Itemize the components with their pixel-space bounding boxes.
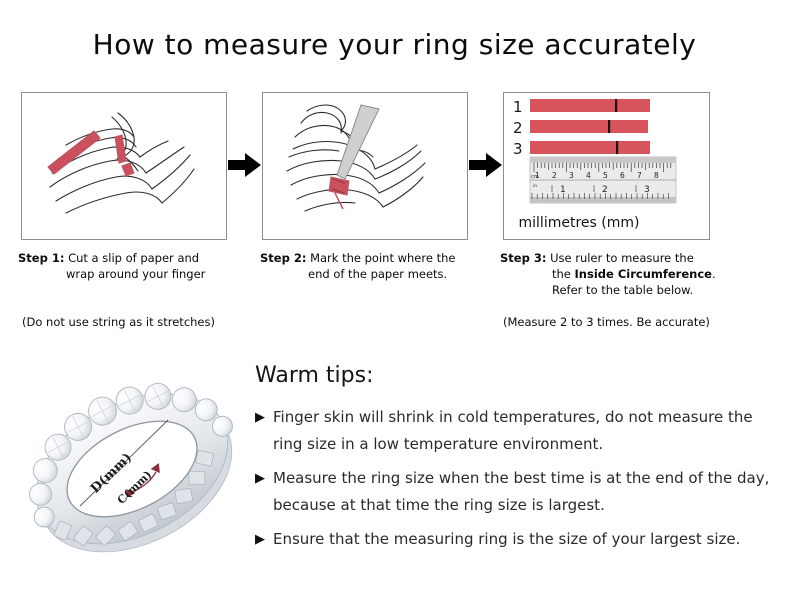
arrow-right-glyph	[228, 150, 262, 180]
cm-tick-3: 3	[569, 171, 574, 180]
step-2-line2: end of the paper meets.	[260, 266, 492, 282]
step-3-caption: Step 3: Use ruler to measure the the Ins…	[500, 250, 750, 298]
strip-number-1: 1	[513, 98, 523, 116]
tip-item-1: ▶ Finger skin will shrink in cold temper…	[255, 404, 775, 458]
tip-text-3: Ensure that the measuring ring is the si…	[273, 526, 775, 553]
inch-tick-2: 2	[602, 185, 608, 195]
arrow-right-glyph	[469, 150, 503, 180]
step-3-line2-prefix: the	[552, 267, 575, 281]
cm-tick-6: 6	[620, 171, 625, 180]
hand-marking-paper-icon	[263, 93, 468, 240]
step-3-illustration-panel: 1 2 3	[503, 92, 710, 240]
tip-item-3: ▶ Ensure that the measuring ring is the …	[255, 526, 775, 553]
cm-unit-label: cm	[531, 174, 539, 180]
arrow-right-icon-2	[469, 150, 503, 180]
page-title: How to measure your ring size accurately	[0, 28, 789, 61]
inch-unit-label: in	[533, 183, 537, 189]
strip-number-2: 2	[513, 119, 523, 137]
step-3-inside-circumference: Inside Circumference	[575, 267, 712, 281]
step-1-label: Step 1:	[18, 251, 64, 265]
step-3-note: (Measure 2 to 3 times. Be accurate)	[503, 315, 710, 329]
step-2-line1: Mark the point where the	[306, 251, 455, 265]
tip-item-2: ▶ Measure the ring size when the best ti…	[255, 465, 775, 519]
step-3-line2: the Inside Circumference.	[500, 266, 750, 282]
bullet-triangle-icon: ▶	[255, 526, 273, 553]
step-2-caption: Step 2: Mark the point where the end of …	[260, 250, 492, 282]
cm-tick-2: 2	[552, 171, 557, 180]
paper-strips-and-ruler-icon: 1 2 3	[504, 93, 710, 240]
tip-text-1: Finger skin will shrink in cold temperat…	[273, 404, 775, 458]
ring-figure: D(mm) C(mm)	[18, 358, 246, 580]
cm-tick-5: 5	[603, 171, 608, 180]
step-3-line1: Use ruler to measure the	[546, 251, 693, 265]
step-2-label: Step 2:	[260, 251, 306, 265]
step-2-illustration-panel	[262, 92, 468, 240]
arrow-right-icon-1	[228, 150, 262, 180]
ruler-unit-caption: millimetres (mm)	[519, 215, 640, 231]
step-3-label: Step 3:	[500, 251, 546, 265]
step-1-note: (Do not use string as it stretches)	[22, 315, 215, 329]
warm-tips-section: Warm tips: ▶ Finger skin will shrink in …	[255, 363, 775, 560]
bullet-triangle-icon: ▶	[255, 404, 273, 431]
warm-tips-heading: Warm tips:	[255, 363, 775, 388]
step-1-illustration-panel	[21, 92, 227, 240]
inch-tick-3: 3	[644, 185, 650, 195]
step-1-line2: wrap around your finger	[18, 266, 250, 282]
inch-tick-1: 1	[560, 185, 566, 195]
step-3-line3: Refer to the table below.	[500, 282, 750, 298]
diamond-ring-illustration: D(mm) C(mm)	[18, 358, 246, 580]
strip-number-3: 3	[513, 140, 523, 158]
hand-with-paper-strip-icon	[22, 93, 227, 240]
bullet-triangle-icon: ▶	[255, 465, 273, 492]
step-1-line1: Cut a slip of paper and	[64, 251, 199, 265]
cm-tick-4: 4	[586, 171, 591, 180]
cm-tick-7: 7	[637, 171, 642, 180]
tip-text-2: Measure the ring size when the best time…	[273, 465, 775, 519]
steps-illustration-row: 1 2 3	[0, 92, 789, 242]
step-3-line2-end: .	[712, 267, 716, 281]
cm-tick-8: 8	[654, 171, 659, 180]
step-1-caption: Step 1: Cut a slip of paper and wrap aro…	[18, 250, 250, 282]
